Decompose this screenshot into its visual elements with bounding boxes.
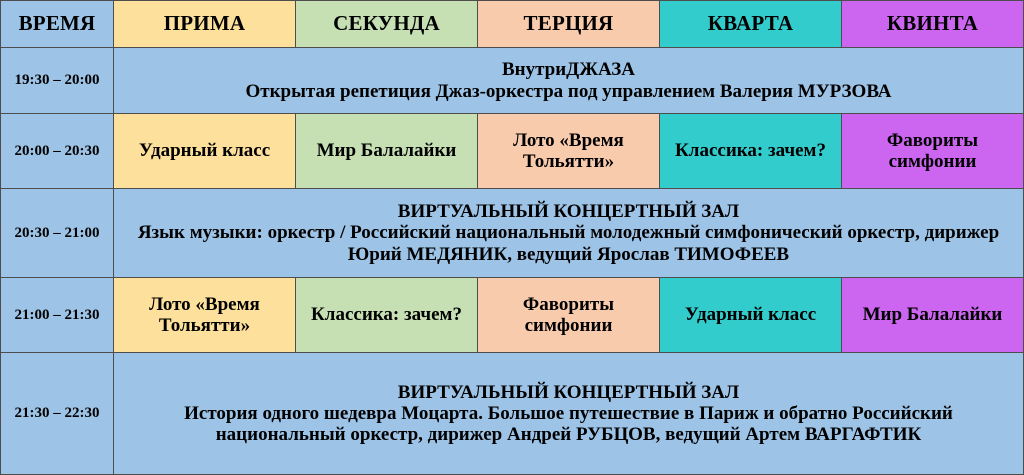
- event-cell-kvinta: Фавориты симфонии: [842, 114, 1024, 189]
- column-header-time: ВРЕМЯ: [1, 1, 114, 48]
- table-row: 20:00 – 20:30 Ударный класс Мир Балалайк…: [1, 114, 1024, 189]
- event-cell-kvarta: Классика: зачем?: [660, 114, 842, 189]
- event-cell-kvinta: Мир Балалайки: [842, 278, 1024, 353]
- event-cell-kvarta: Ударный класс: [660, 278, 842, 353]
- table-row: 21:30 – 22:30 ВИРТУАЛЬНЫЙ КОНЦЕРТНЫЙ ЗАЛ…: [1, 353, 1024, 475]
- event-cell-prima: Лото «Время Тольятти»: [114, 278, 296, 353]
- feature-description: Открытая репетиция Джаз-оркестра под упр…: [118, 81, 1019, 102]
- feature-description: История одного шедевра Моцарта. Большое …: [118, 403, 1019, 446]
- time-slot: 21:00 – 21:30: [1, 278, 114, 353]
- column-header-prima: ПРИМА: [114, 1, 296, 48]
- table-row: 21:00 – 21:30 Лото «Время Тольятти» Клас…: [1, 278, 1024, 353]
- time-slot: 19:30 – 20:00: [1, 48, 114, 114]
- event-cell-tercia: Фавориты симфонии: [478, 278, 660, 353]
- table-header-row: ВРЕМЯ ПРИМА СЕКУНДА ТЕРЦИЯ КВАРТА КВИНТА: [1, 1, 1024, 48]
- feature-title: ВнутриДЖАЗА: [118, 59, 1019, 80]
- feature-event: ВИРТУАЛЬНЫЙ КОНЦЕРТНЫЙ ЗАЛ Язык музыки: …: [114, 189, 1024, 278]
- feature-event: ВнутриДЖАЗА Открытая репетиция Джаз-орке…: [114, 48, 1024, 114]
- schedule-table: ВРЕМЯ ПРИМА СЕКУНДА ТЕРЦИЯ КВАРТА КВИНТА…: [0, 0, 1024, 475]
- time-slot: 20:30 – 21:00: [1, 189, 114, 278]
- feature-title: ВИРТУАЛЬНЫЙ КОНЦЕРТНЫЙ ЗАЛ: [118, 201, 1019, 222]
- time-slot: 20:00 – 20:30: [1, 114, 114, 189]
- column-header-tercia: ТЕРЦИЯ: [478, 1, 660, 48]
- column-header-secunda: СЕКУНДА: [296, 1, 478, 48]
- feature-event: ВИРТУАЛЬНЫЙ КОНЦЕРТНЫЙ ЗАЛ История одног…: [114, 353, 1024, 475]
- event-cell-secunda: Мир Балалайки: [296, 114, 478, 189]
- column-header-kvinta: КВИНТА: [842, 1, 1024, 48]
- column-header-kvarta: КВАРТА: [660, 1, 842, 48]
- table-row: 20:30 – 21:00 ВИРТУАЛЬНЫЙ КОНЦЕРТНЫЙ ЗАЛ…: [1, 189, 1024, 278]
- feature-title: ВИРТУАЛЬНЫЙ КОНЦЕРТНЫЙ ЗАЛ: [118, 382, 1019, 403]
- table-row: 19:30 – 20:00 ВнутриДЖАЗА Открытая репет…: [1, 48, 1024, 114]
- event-cell-prima: Ударный класс: [114, 114, 296, 189]
- event-cell-tercia: Лото «Время Тольятти»: [478, 114, 660, 189]
- time-slot: 21:30 – 22:30: [1, 353, 114, 475]
- feature-description: Язык музыки: оркестр / Российский национ…: [118, 222, 1019, 265]
- event-cell-secunda: Классика: зачем?: [296, 278, 478, 353]
